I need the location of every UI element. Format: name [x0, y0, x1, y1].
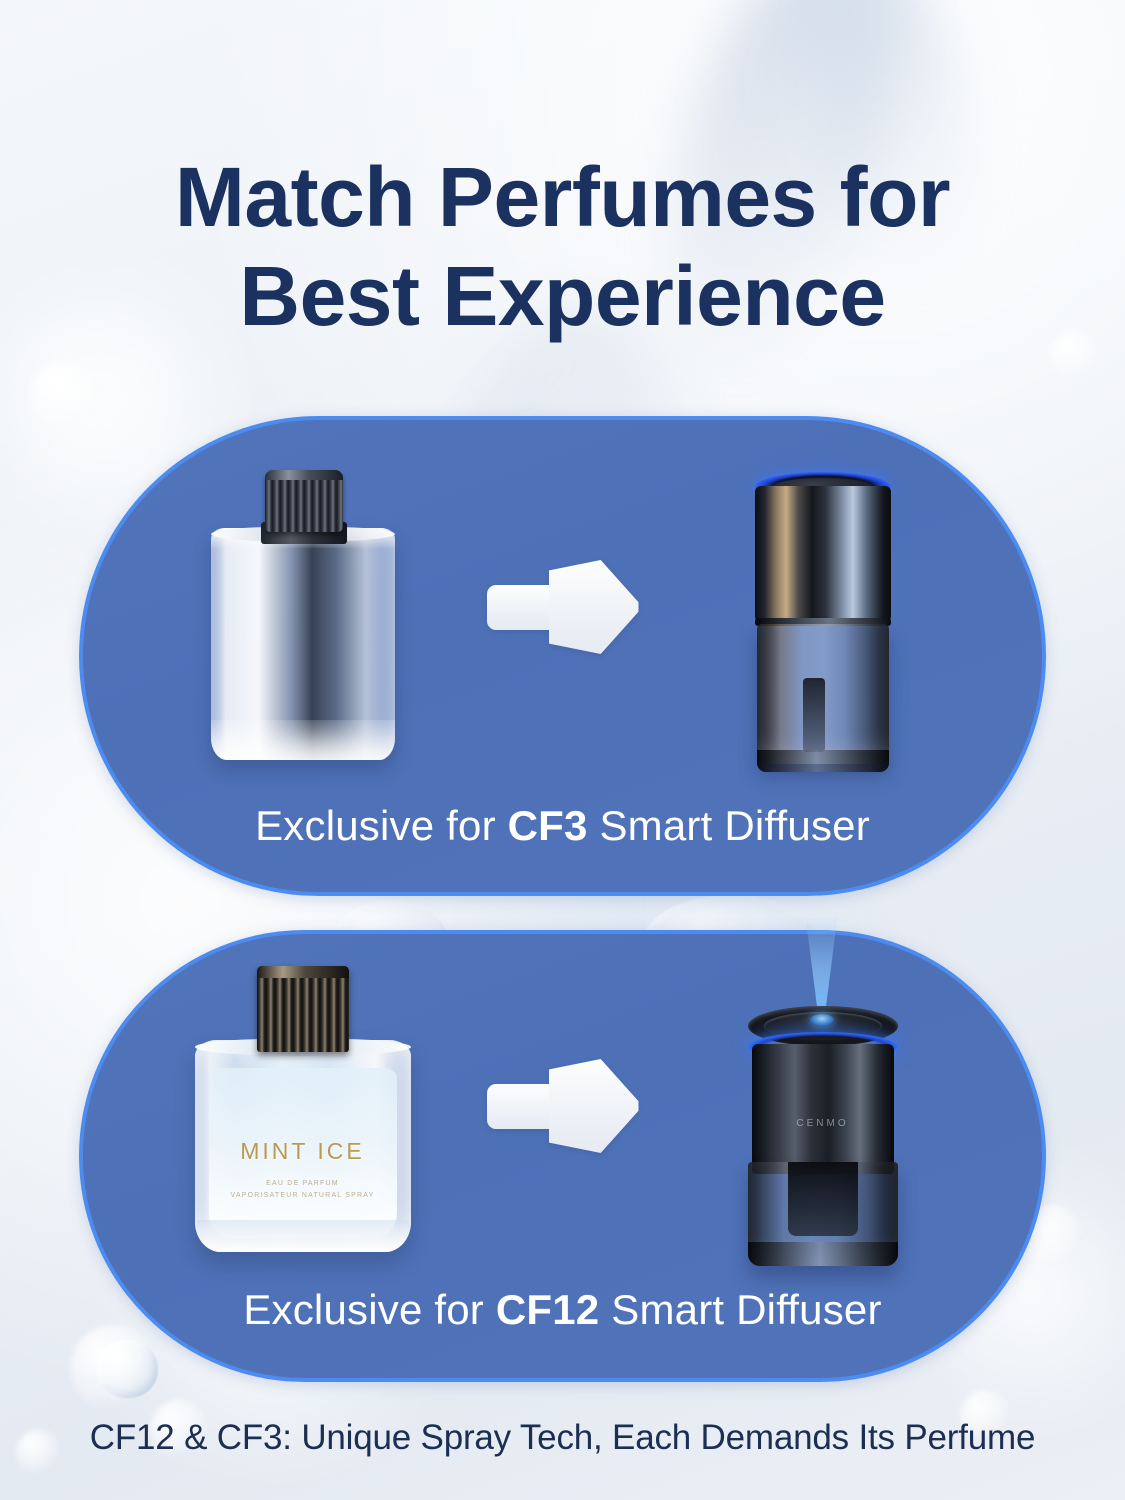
caption-model-cf3: CF3	[508, 802, 588, 849]
diffuser-upper-shell	[752, 1044, 894, 1174]
arrow-head	[549, 559, 639, 655]
target-product-slot-cf12: CENMO	[658, 946, 988, 1266]
refill-body	[211, 528, 395, 760]
panel-row-cf3	[83, 442, 1042, 772]
perfume-label: MINT ICE	[195, 1138, 411, 1165]
page-title-line-2: Best Experience	[0, 247, 1125, 346]
panel-caption-cf12: Exclusive for CF12 Smart Diffuser	[83, 1286, 1042, 1334]
panel-caption-cf3: Exclusive for CF3 Smart Diffuser	[83, 802, 1042, 850]
target-product-slot-cf3	[658, 442, 988, 772]
diffuser-tank-base	[748, 1242, 898, 1266]
diffuser-tank-base	[757, 750, 889, 772]
refill-cap	[265, 470, 343, 532]
comparison-panel-cf3: Exclusive for CF3 Smart Diffuser	[79, 416, 1046, 896]
footer-note: CF12 & CF3: Unique Spray Tech, Each Dema…	[0, 1418, 1125, 1458]
cf3-smart-diffuser	[755, 472, 891, 772]
cf3-refill-bottle	[203, 462, 403, 772]
arrow-slot-cf3	[468, 442, 658, 772]
perfume-cap	[257, 966, 349, 1052]
page-title-line-1: Match Perfumes for	[0, 148, 1125, 247]
panel-row-cf12: MINT ICE EAU DE PARFUM VAPORISATEUR NATU…	[83, 946, 1042, 1266]
diffuser-tank	[757, 624, 889, 764]
cf12-smart-diffuser: CENMO	[748, 966, 898, 1266]
bokeh-dot	[30, 360, 100, 430]
arrow-right-icon	[487, 1058, 639, 1154]
source-product-slot-cf12: MINT ICE EAU DE PARFUM VAPORISATEUR NATU…	[138, 946, 468, 1266]
mist-plume-icon	[800, 918, 844, 1014]
mint-ice-perfume-bottle: MINT ICE EAU DE PARFUM VAPORISATEUR NATU…	[195, 966, 411, 1266]
water-droplet	[96, 1340, 158, 1398]
perfume-sublabel-line-1: EAU DE PARFUM	[195, 1178, 411, 1190]
comparison-panel-cf12: MINT ICE EAU DE PARFUM VAPORISATEUR NATU…	[79, 930, 1046, 1382]
arrow-right-icon	[487, 559, 639, 655]
caption-suffix-cf3: Smart Diffuser	[588, 802, 870, 849]
page-title: Match Perfumes for Best Experience	[0, 148, 1125, 346]
caption-suffix-cf12: Smart Diffuser	[599, 1286, 881, 1333]
arrow-head	[549, 1058, 639, 1154]
perfume-base	[197, 1220, 409, 1252]
diffuser-brand-mark: CENMO	[748, 1118, 898, 1129]
caption-prefix-cf3: Exclusive for	[255, 802, 508, 849]
source-product-slot-cf3	[138, 442, 468, 772]
caption-prefix-cf12: Exclusive for	[243, 1286, 496, 1333]
arrow-slot-cf12	[468, 946, 658, 1266]
perfume-sublabel: EAU DE PARFUM VAPORISATEUR NATURAL SPRAY	[195, 1178, 411, 1202]
bokeh-dot	[70, 1325, 156, 1411]
caption-model-cf12: CF12	[496, 1286, 600, 1333]
spray-nozzle-icon	[810, 1014, 834, 1026]
diffuser-upper-shell	[755, 486, 891, 622]
perfume-sublabel-line-2: VAPORISATEUR NATURAL SPRAY	[195, 1190, 411, 1202]
product-comparison-poster: Match Perfumes for Best Experience	[0, 0, 1125, 1500]
